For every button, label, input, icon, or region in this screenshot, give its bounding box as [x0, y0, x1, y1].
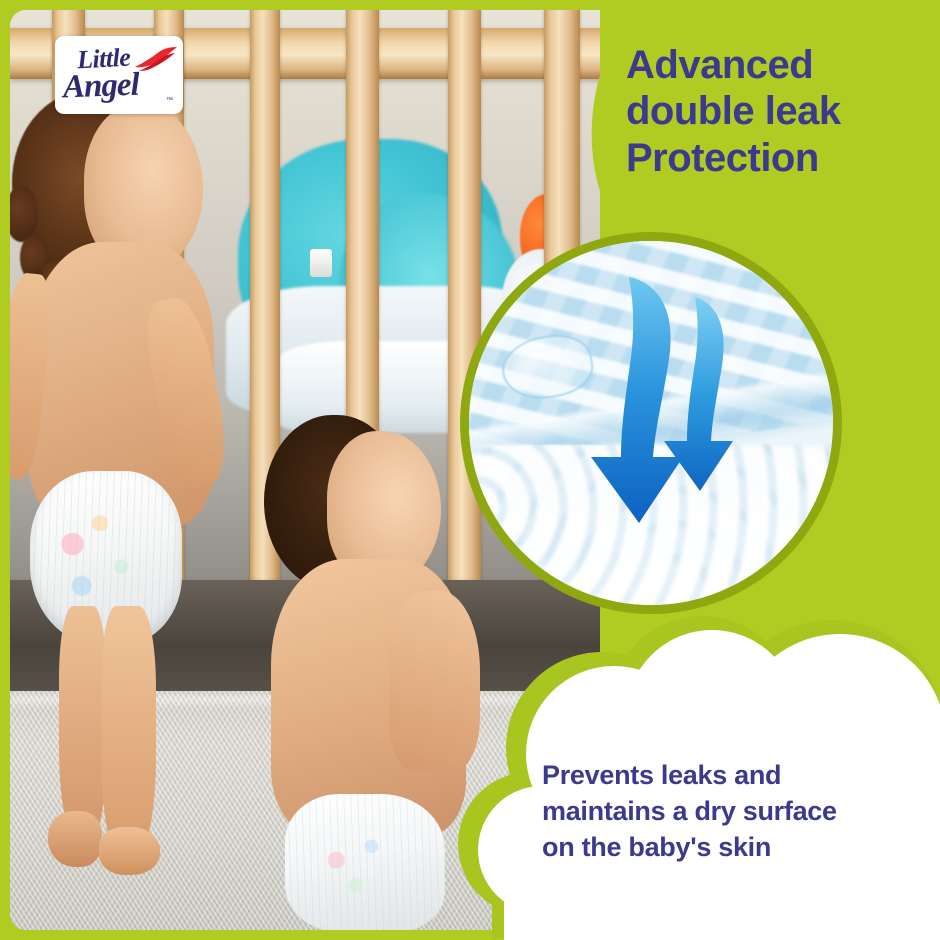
caption-line-2: maintains a dry surface: [542, 794, 922, 830]
headline-line-1: Advanced: [626, 42, 926, 88]
baby-leg: [59, 606, 106, 843]
baby-foot: [99, 827, 160, 874]
caption-line-1: Prevents leaks and: [542, 758, 922, 794]
absorption-arrows: [469, 241, 833, 605]
logo-text-angel: Angel: [62, 67, 139, 107]
advertisement-canvas: Little Angel ™ Advanced double leak Prot…: [0, 0, 940, 940]
diaper-core-closeup: [469, 241, 833, 605]
diaper-worn-seated: [285, 794, 445, 930]
diaper-core-closeup-ring: [460, 232, 842, 614]
red-wing-icon: [133, 46, 179, 72]
baby-leg: [102, 606, 156, 859]
baby-foot: [48, 811, 102, 866]
trademark-symbol: ™: [166, 97, 173, 104]
headline-line-3: Protection: [626, 135, 926, 181]
headline-line-2: double leak: [626, 88, 926, 134]
arrow-down-primary: [591, 277, 683, 523]
brand-logo[interactable]: Little Angel ™: [55, 36, 183, 114]
caption-line-3: on the baby's skin: [542, 830, 922, 866]
caption-text: Prevents leaks and maintains a dry surfa…: [542, 758, 922, 866]
page-title: Advanced double leak Protection: [626, 42, 926, 181]
diaper-worn-standing: [30, 471, 181, 645]
caption-cloud: Prevents leaks and maintains a dry surfa…: [452, 612, 940, 940]
